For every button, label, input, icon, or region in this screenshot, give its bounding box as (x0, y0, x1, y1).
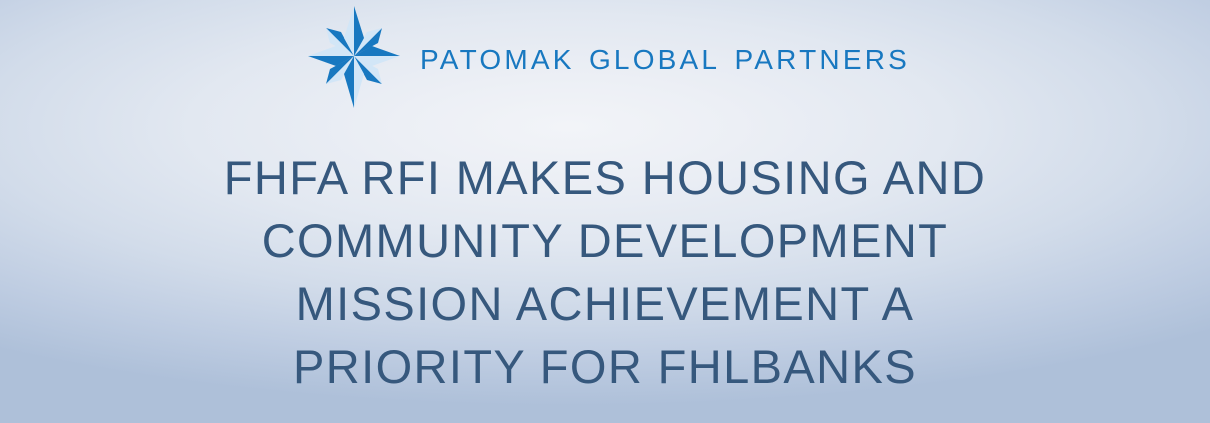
page-title-line-4: Priority for FHLBanks (40, 335, 1170, 398)
page-title-line-2: Community Development (40, 209, 1170, 272)
page-title-line-3: Mission Achievement a (40, 272, 1170, 335)
brand-wordmark: Patomak Global Partners (420, 36, 910, 76)
page-banner: Patomak Global Partners FHFA RFI Makes H… (0, 0, 1210, 423)
brand-logo-lockup[interactable]: Patomak Global Partners (300, 4, 910, 108)
page-title-line-1: FHFA RFI Makes Housing and (40, 146, 1170, 209)
compass-rose-icon (306, 4, 402, 108)
page-title: FHFA RFI Makes Housing and Community Dev… (0, 146, 1210, 398)
